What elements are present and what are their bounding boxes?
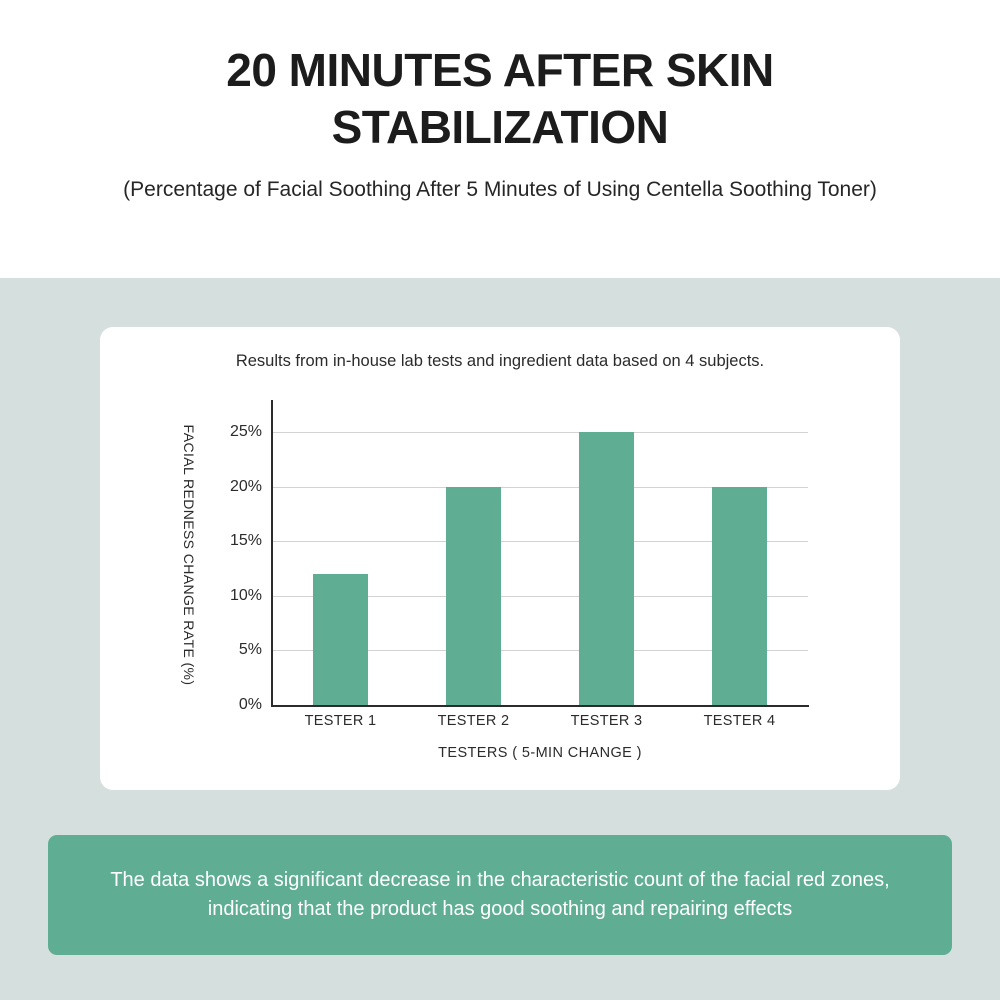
- bar-tester-1[interactable]: [313, 574, 368, 705]
- page-title: 20 MINUTES AFTER SKIN STABILIZATION: [80, 0, 920, 155]
- x-axis-line: [271, 705, 809, 707]
- y-tick-label-5: 5%: [142, 641, 262, 659]
- y-tick-label-25: 25%: [142, 423, 262, 441]
- y-tick-label-20: 20%: [142, 478, 262, 496]
- y-tick-label-15: 15%: [142, 532, 262, 550]
- x-tick-label-tester-1: TESTER 1: [276, 713, 406, 729]
- x-tick-label-tester-3: TESTER 3: [542, 713, 672, 729]
- conclusion-text: The data shows a significant decrease in…: [48, 866, 952, 924]
- y-axis-title: FACIAL REDNESS CHANGE RATE (%): [181, 425, 197, 686]
- y-tick-label-0: 0%: [142, 696, 262, 714]
- y-tick-label-10: 10%: [142, 587, 262, 605]
- gridline-25: [272, 432, 808, 433]
- page-subtitle: (Percentage of Facial Soothing After 5 M…: [80, 155, 920, 205]
- x-tick-label-tester-4: TESTER 4: [675, 713, 805, 729]
- infographic-page: 20 MINUTES AFTER SKIN STABILIZATION (Per…: [0, 0, 1000, 1000]
- bar-tester-2[interactable]: [446, 487, 501, 705]
- x-tick-label-tester-2: TESTER 2: [409, 713, 539, 729]
- bar-tester-3[interactable]: [579, 432, 634, 705]
- conclusion-banner: The data shows a significant decrease in…: [48, 835, 952, 955]
- chart-card: Results from in-house lab tests and ingr…: [100, 327, 900, 790]
- x-axis-title: TESTERS ( 5-MIN CHANGE ): [272, 745, 808, 761]
- bar-chart: 25% 20% 15% 10% 5% 0% TESTER 1 TESTER 2 …: [100, 327, 900, 790]
- plot-area: 25% 20% 15% 10% 5% 0% TESTER 1 TESTER 2 …: [272, 405, 808, 705]
- bar-tester-4[interactable]: [712, 487, 767, 705]
- header-section: 20 MINUTES AFTER SKIN STABILIZATION (Per…: [0, 0, 1000, 278]
- y-axis-line: [271, 400, 273, 705]
